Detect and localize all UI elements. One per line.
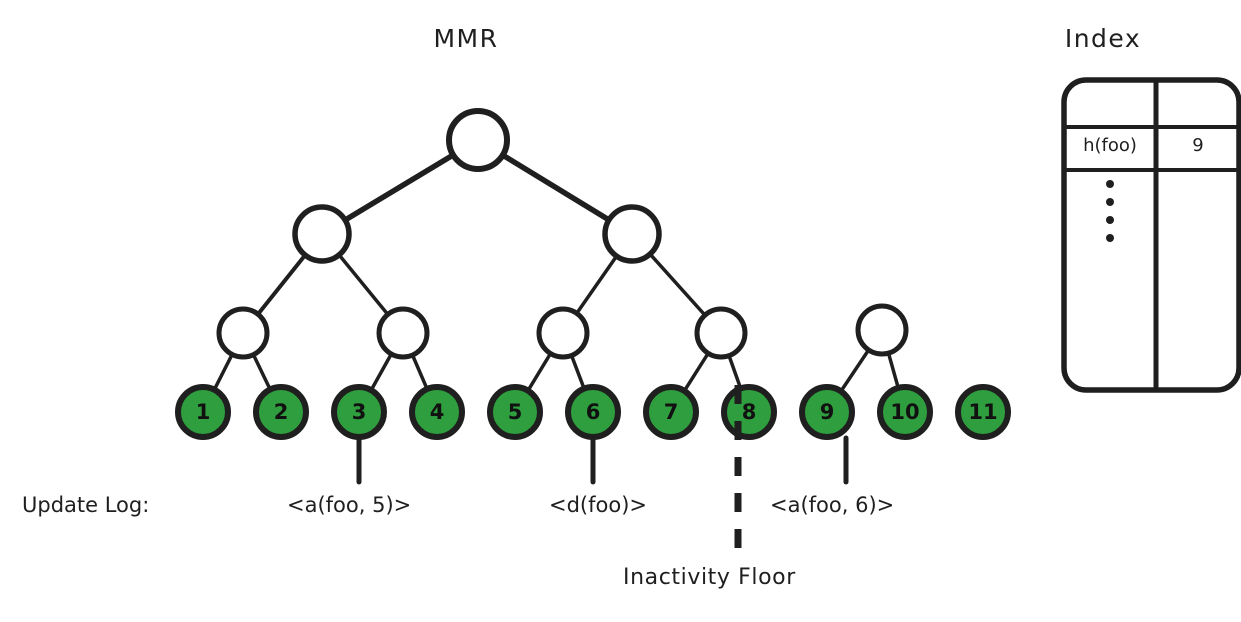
diagram-canvas: 1234567891011 h(foo)9Index <a(foo, 5)><d… (0, 0, 1241, 622)
internal-node-root (449, 111, 507, 169)
leaf-label: 6 (586, 400, 601, 424)
tree-edges-layer (203, 140, 905, 412)
index-table-layer: h(foo)9Index (1064, 24, 1239, 390)
leaf-label: 10 (890, 400, 919, 424)
leaf-node-7[interactable]: 7 (646, 387, 696, 437)
update-log-label: Update Log: (22, 493, 149, 517)
leaf-node-8[interactable]: 8 (724, 387, 774, 437)
tree-internal-nodes-layer (219, 111, 906, 357)
leaf-node-3[interactable]: 3 (334, 387, 384, 437)
leaf-label: 1 (196, 400, 211, 424)
mmr-title: MMR (433, 24, 498, 53)
leaf-node-6[interactable]: 6 (568, 387, 618, 437)
leaf-label: 9 (820, 400, 835, 424)
internal-node-n-l3e (858, 306, 906, 354)
leaf-label: 2 (274, 400, 289, 424)
internal-node-n-l3a (219, 309, 267, 357)
update-log-entry-2: <d(foo)> (549, 493, 647, 517)
leaf-label: 11 (968, 400, 997, 424)
index-cell-key: h(foo) (1083, 135, 1137, 156)
update-log-entry-1: <a(foo, 5)> (287, 493, 411, 517)
leaf-node-2[interactable]: 2 (256, 387, 306, 437)
internal-node-n-l2b (605, 207, 659, 261)
leaf-label: 8 (742, 400, 757, 424)
leaf-node-10[interactable]: 10 (880, 387, 930, 437)
tree-leaf-nodes-layer: 1234567891011 (178, 387, 1008, 437)
update-log-ticks-layer (359, 438, 846, 482)
leaf-label: 7 (664, 400, 679, 424)
index-ellipsis-dot-2 (1106, 198, 1114, 206)
leaf-label: 3 (352, 400, 367, 424)
leaf-node-5[interactable]: 5 (490, 387, 540, 437)
leaf-node-4[interactable]: 4 (412, 387, 462, 437)
index-ellipsis-dot-1 (1106, 180, 1114, 188)
index-ellipsis-dot-4 (1106, 234, 1114, 242)
leaf-label: 4 (430, 400, 445, 424)
update-log-entry-3: <a(foo, 6)> (770, 493, 894, 517)
internal-node-n-l3d (697, 309, 745, 357)
internal-node-n-l2a (295, 207, 349, 261)
leaf-label: 5 (508, 400, 523, 424)
inactivity-floor-label: Inactivity Floor (623, 565, 796, 590)
labels-layer: <a(foo, 5)><d(foo)><a(foo, 6)>Update Log… (22, 24, 894, 590)
internal-node-n-l3c (539, 309, 587, 357)
index-title: Index (1065, 24, 1141, 53)
internal-node-n-l3b (379, 309, 427, 357)
index-cell-value: 9 (1192, 135, 1203, 156)
mmr-diagram-svg: 1234567891011 h(foo)9Index <a(foo, 5)><d… (0, 0, 1241, 622)
leaf-node-9[interactable]: 9 (802, 387, 852, 437)
index-ellipsis-dot-3 (1106, 216, 1114, 224)
leaf-node-1[interactable]: 1 (178, 387, 228, 437)
leaf-node-11[interactable]: 11 (958, 387, 1008, 437)
